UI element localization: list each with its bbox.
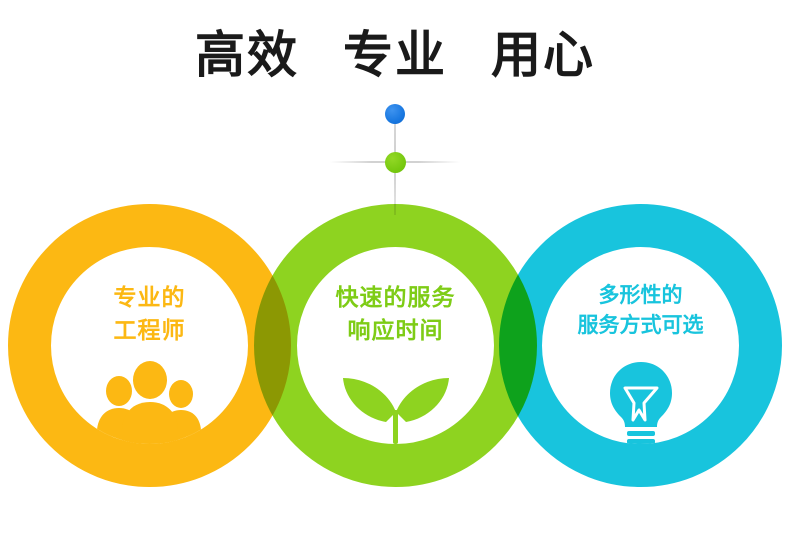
card-service-modes-line-2: 服务方式可选	[542, 311, 739, 341]
card-engineers-text: 专业的 工程师	[51, 281, 248, 346]
promo-banner: 高效专业用心 专业的 工程师	[0, 0, 790, 557]
sprout-icon	[297, 358, 494, 444]
card-response-time[interactable]: 快速的服务 响应时间	[297, 247, 494, 444]
card-response-time-line-2: 响应时间	[297, 314, 494, 347]
card-service-modes-line-1: 多形性的	[542, 281, 739, 311]
card-service-modes[interactable]: 多形性的 服务方式可选	[542, 247, 739, 444]
card-engineers-line-2: 工程师	[51, 314, 248, 347]
card-engineers[interactable]: 专业的 工程师	[51, 247, 248, 444]
card-service-modes-text: 多形性的 服务方式可选	[542, 281, 739, 341]
people-group-icon	[51, 358, 248, 444]
card-response-time-line-1: 快速的服务	[297, 281, 494, 314]
card-response-time-text: 快速的服务 响应时间	[297, 281, 494, 346]
card-engineers-line-1: 专业的	[51, 281, 248, 314]
lightbulb-icon	[542, 358, 739, 444]
